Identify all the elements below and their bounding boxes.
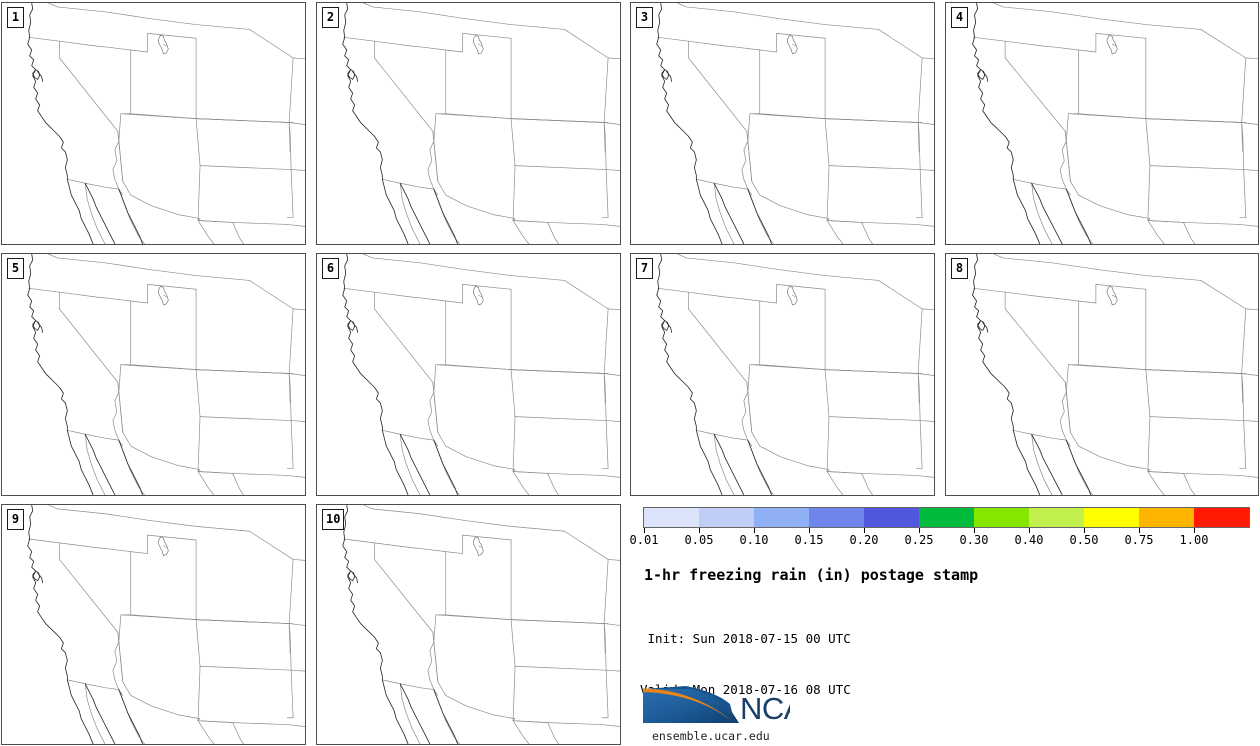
ensemble-member-panel-7[interactable]: 7: [630, 253, 935, 496]
ensemble-member-panel-9[interactable]: 9: [1, 504, 306, 745]
colorbar-segment-5: [919, 508, 974, 527]
panel-number-label: 2: [322, 7, 339, 28]
colorbar-segment-10: [1194, 508, 1249, 527]
panel-number-label: 1: [7, 7, 24, 28]
western-us-map: [631, 3, 934, 244]
panel-number-label: 8: [951, 258, 968, 279]
ensemble-member-panel-8[interactable]: 8: [945, 253, 1259, 496]
colorbar-segment-8: [1084, 508, 1139, 527]
western-us-map: [2, 254, 305, 495]
ensemble-member-panel-10[interactable]: 10: [316, 504, 621, 745]
colorbar-tick-label-5: 0.25: [905, 533, 934, 547]
colorbar-tick-label-1: 0.05: [685, 533, 714, 547]
colorbar-segment-6: [974, 508, 1029, 527]
colorbar-segment-1: [699, 508, 754, 527]
ensemble-member-panel-6[interactable]: 6: [316, 253, 621, 496]
panel-number-label: 7: [636, 258, 653, 279]
colorbar: 0.010.050.100.150.200.250.300.400.500.75…: [643, 507, 1250, 551]
colorbar-tick-label-4: 0.20: [850, 533, 879, 547]
colorbar-segment-3: [809, 508, 864, 527]
colorbar-tick-label-7: 0.40: [1015, 533, 1044, 547]
western-us-map: [317, 3, 620, 244]
ensemble-member-panel-2[interactable]: 2: [316, 2, 621, 245]
legend-and-info-region: 0.010.050.100.150.200.250.300.400.500.75…: [630, 500, 1260, 746]
colorbar-tick-labels: 0.010.050.100.150.200.250.300.400.500.75…: [643, 533, 1250, 549]
ensemble-member-panel-4[interactable]: 4: [945, 2, 1259, 245]
ensemble-member-panel-1[interactable]: 1: [1, 2, 306, 245]
ncar-logo[interactable]: NCAR ensemble.ucar.edu: [642, 680, 842, 742]
western-us-map: [2, 3, 305, 244]
panel-number-label: 10: [322, 509, 344, 530]
svg-text:NCAR: NCAR: [740, 691, 790, 724]
colorbar-tick-label-9: 0.75: [1125, 533, 1154, 547]
colorbar-tick-label-10: 1.00: [1180, 533, 1209, 547]
ensemble-member-panel-5[interactable]: 5: [1, 253, 306, 496]
colorbar-segment-4: [864, 508, 919, 527]
panel-number-label: 5: [7, 258, 24, 279]
colorbar-segment-9: [1139, 508, 1194, 527]
colorbar-segment-2: [754, 508, 809, 527]
init-time-line: Init: Sun 2018-07-15 00 UTC: [640, 630, 851, 647]
western-us-map: [2, 505, 305, 744]
western-us-map: [946, 254, 1258, 495]
colorbar-tick-label-6: 0.30: [960, 533, 989, 547]
colorbar-gradient: [643, 507, 1250, 528]
western-us-map: [946, 3, 1258, 244]
page-title: 1-hr freezing rain (in) postage stamp: [644, 566, 978, 584]
logo-url-text[interactable]: ensemble.ucar.edu: [652, 729, 770, 743]
western-us-map: [631, 254, 934, 495]
colorbar-tick-label-0: 0.01: [630, 533, 659, 547]
western-us-map: [317, 254, 620, 495]
panel-number-label: 6: [322, 258, 339, 279]
ensemble-member-panel-3[interactable]: 3: [630, 2, 935, 245]
colorbar-tick-label-3: 0.15: [795, 533, 824, 547]
colorbar-tick-label-8: 0.50: [1070, 533, 1099, 547]
panel-number-label: 3: [636, 7, 653, 28]
western-us-map: [317, 505, 620, 744]
panel-number-label: 9: [7, 509, 24, 530]
colorbar-segment-0: [644, 508, 699, 527]
panel-number-label: 4: [951, 7, 968, 28]
colorbar-tick-label-2: 0.10: [740, 533, 769, 547]
colorbar-segment-7: [1029, 508, 1084, 527]
ncar-logo-icon: NCAR: [642, 680, 790, 724]
